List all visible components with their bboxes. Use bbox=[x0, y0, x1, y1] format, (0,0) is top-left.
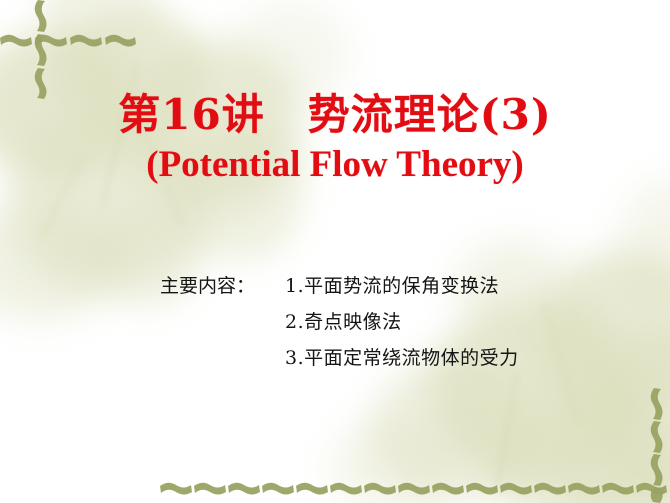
leaf-blob bbox=[490, 400, 670, 503]
contents-block: 主要内容： 1.平面势流的保角变换法 2.奇点映像法 3.平面定常绕流物体的受力 bbox=[160, 268, 640, 376]
contents-label: 主要内容： bbox=[160, 268, 285, 304]
brush-rule-vertical-bottom-right bbox=[638, 388, 670, 503]
title-english: (Potential Flow Theory) bbox=[0, 142, 670, 188]
leaf-blob bbox=[560, 430, 670, 503]
brush-rule-horizontal-top-left bbox=[0, 22, 150, 54]
list-item: 1.平面势流的保角变换法 bbox=[285, 268, 640, 304]
leaf-blob bbox=[0, 200, 120, 320]
leaf-blob bbox=[370, 360, 535, 500]
contents-row: 主要内容： 1.平面势流的保角变换法 2.奇点映像法 3.平面定常绕流物体的受力 bbox=[160, 268, 640, 376]
contents-list: 1.平面势流的保角变换法 2.奇点映像法 3.平面定常绕流物体的受力 bbox=[285, 268, 640, 376]
stem-streak bbox=[495, 371, 520, 490]
slide-canvas: 第16讲 势流理论(3) (Potential Flow Theory) 主要内… bbox=[0, 0, 670, 503]
watercolor-background bbox=[0, 0, 670, 503]
brush-rule-horizontal-bottom-right bbox=[160, 470, 670, 502]
title-chinese: 第16讲 势流理论(3) bbox=[0, 88, 670, 142]
leaf-blob bbox=[40, 0, 160, 70]
slide-title-block: 第16讲 势流理论(3) (Potential Flow Theory) bbox=[0, 88, 670, 188]
list-item: 2.奇点映像法 bbox=[285, 304, 640, 340]
leaf-blob bbox=[330, 420, 460, 503]
list-item: 3.平面定常绕流物体的受力 bbox=[285, 340, 640, 376]
